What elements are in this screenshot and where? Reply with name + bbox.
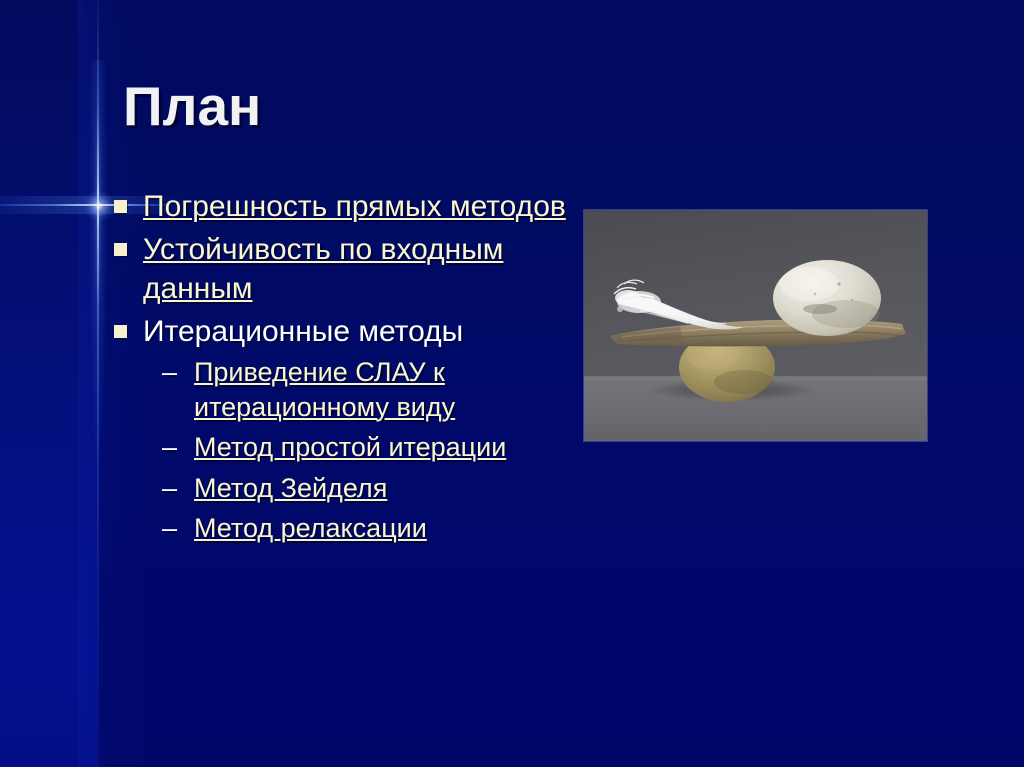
- page-title: План: [123, 78, 261, 136]
- list-item[interactable]: – Метод релаксации: [162, 511, 566, 546]
- outline-sublist: – Приведение СЛАУ к итерационному виду –…: [162, 355, 566, 546]
- outline-link-ustoychivost[interactable]: Устойчивость по входным данным: [143, 230, 566, 308]
- dash-bullet-icon: –: [162, 430, 181, 465]
- list-item[interactable]: Устойчивость по входным данным: [114, 230, 566, 308]
- outline-link-metod-prostoy-iteracii[interactable]: Метод простой итерации: [194, 430, 566, 465]
- crossing-vertical-line: [97, 0, 99, 767]
- outline-text-iteracionnye-metody: Итерационные методы: [143, 312, 566, 351]
- crossing-lines-hub: [84, 191, 114, 221]
- outline-link-pogreshnost[interactable]: Погрешность прямых методов: [143, 187, 566, 226]
- square-bullet-icon: [114, 200, 127, 213]
- outline-body: Погрешность прямых методов Устойчивость …: [114, 187, 566, 552]
- dash-bullet-icon: –: [162, 471, 181, 506]
- list-item: Итерационные методы: [114, 312, 566, 351]
- outline-link-metod-zeydelya[interactable]: Метод Зейделя: [194, 471, 566, 506]
- balance-photo-illustration: [584, 210, 927, 441]
- square-bullet-icon: [114, 325, 127, 338]
- list-item[interactable]: – Приведение СЛАУ к итерационному виду: [162, 355, 566, 424]
- dash-bullet-icon: –: [162, 511, 181, 546]
- list-item[interactable]: Погрешность прямых методов: [114, 187, 566, 226]
- outline-link-metod-relaksacii[interactable]: Метод релаксации: [194, 511, 566, 546]
- square-bullet-icon: [114, 243, 127, 256]
- dash-bullet-icon: –: [162, 355, 181, 390]
- outline-link-privedenie-slau[interactable]: Приведение СЛАУ к итерационному виду: [194, 355, 566, 424]
- list-item[interactable]: – Метод простой итерации: [162, 430, 566, 465]
- list-item[interactable]: – Метод Зейделя: [162, 471, 566, 506]
- balance-feather-and-stone-photo: [584, 210, 927, 441]
- presentation-slide: План Погрешность прямых методов Устойчив…: [0, 0, 1024, 767]
